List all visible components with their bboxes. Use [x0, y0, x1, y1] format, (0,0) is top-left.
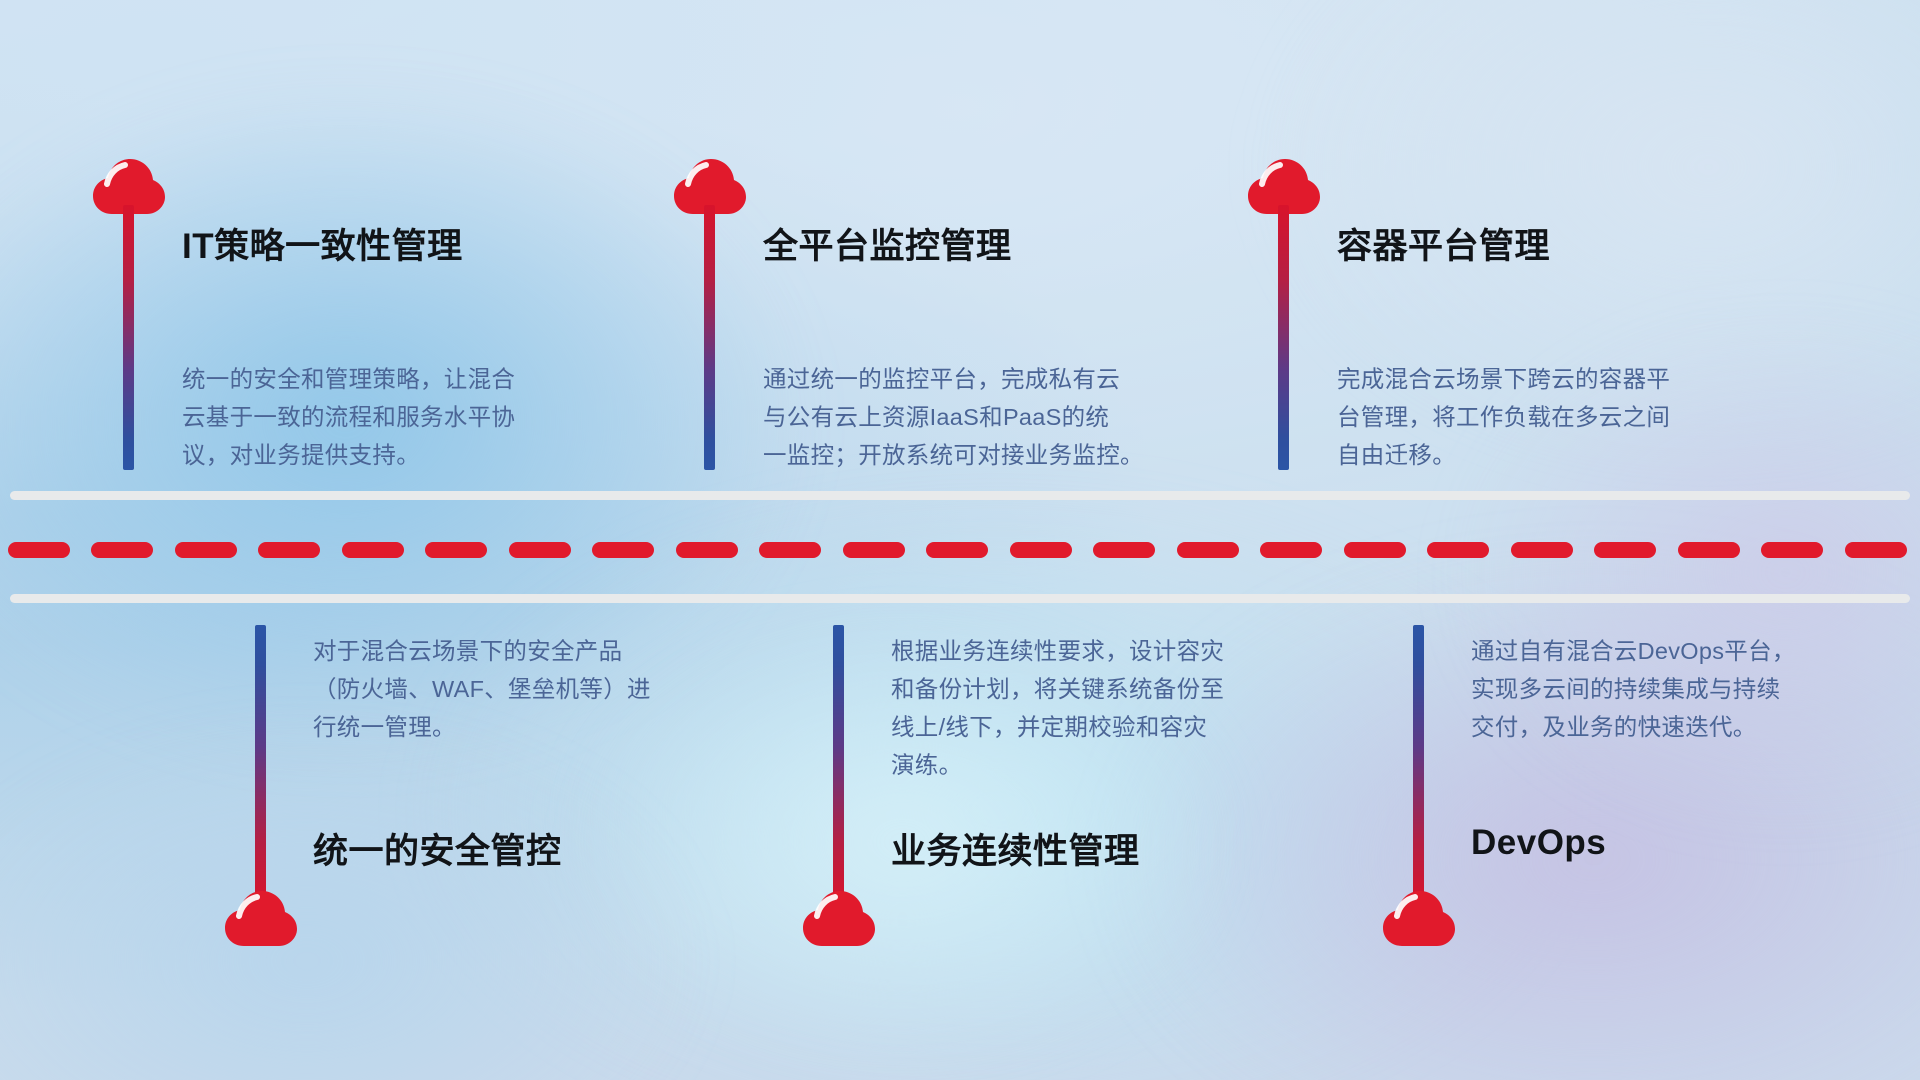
body-line: 通过统一的监控平台，完成私有云: [763, 360, 1144, 398]
road-dash: [425, 542, 487, 558]
road-dash: [8, 542, 70, 558]
road-dash: [592, 542, 654, 558]
road-dash: [1344, 542, 1406, 558]
body-line: 和备份计划，将关键系统备份至: [891, 670, 1224, 708]
road-dash: [1678, 542, 1740, 558]
body-line: 云基于一致的流程和服务水平协: [182, 398, 515, 436]
infographic-canvas: IT策略一致性管理 统一的安全和管理策略，让混合 云基于一致的流程和服务水平协 …: [0, 0, 1920, 1080]
bottom-item-2-title: DevOps: [1471, 823, 1606, 863]
marker-stem: [1278, 205, 1289, 470]
bottom-item-0-body: 对于混合云场景下的安全产品 （防火墙、WAF、堡垒机等）进 行统一管理。: [313, 632, 651, 746]
body-line: 根据业务连续性要求，设计容灾: [891, 632, 1224, 670]
road-dash: [1260, 542, 1322, 558]
top-item-0-title: IT策略一致性管理: [182, 218, 463, 269]
body-line: 台管理，将工作负载在多云之间: [1337, 398, 1670, 436]
body-line: （防火墙、WAF、堡垒机等）进: [313, 670, 651, 708]
marker-stem: [123, 205, 134, 470]
road-dash: [1177, 542, 1239, 558]
road-dash: [1427, 542, 1489, 558]
top-item-0-body: 统一的安全和管理策略，让混合 云基于一致的流程和服务水平协 议，对业务提供支持。: [182, 360, 515, 474]
body-line: 实现多云间的持续集成与持续: [1471, 670, 1796, 708]
cloud-icon: [224, 890, 298, 946]
road-dash: [1594, 542, 1656, 558]
top-item-2-body: 完成混合云场景下跨云的容器平 台管理，将工作负载在多云之间 自由迁移。: [1337, 360, 1670, 474]
body-line: 完成混合云场景下跨云的容器平: [1337, 360, 1670, 398]
road-dashed-centerline: [0, 542, 1920, 558]
road-dash: [175, 542, 237, 558]
marker-stem: [1413, 625, 1424, 903]
road-dash: [676, 542, 738, 558]
body-line: 行统一管理。: [313, 708, 651, 746]
road-dash: [342, 542, 404, 558]
body-line: 自由迁移。: [1337, 436, 1670, 474]
top-item-1-body: 通过统一的监控平台，完成私有云 与公有云上资源IaaS和PaaS的统 一监控；开…: [763, 360, 1144, 474]
body-line: 对于混合云场景下的安全产品: [313, 632, 651, 670]
bottom-item-1-body: 根据业务连续性要求，设计容灾 和备份计划，将关键系统备份至 线上/线下，并定期校…: [891, 632, 1224, 784]
road-dash: [1845, 542, 1907, 558]
road-dash: [1093, 542, 1155, 558]
bottom-item-0-title: 统一的安全管控: [313, 823, 562, 874]
body-line: 演练。: [891, 746, 1224, 784]
top-item-1-title: 全平台监控管理: [763, 218, 1012, 269]
body-line: 线上/线下，并定期校验和容灾: [891, 708, 1224, 746]
body-line: 一监控；开放系统可对接业务监控。: [763, 436, 1144, 474]
body-line: 通过自有混合云DevOps平台，: [1471, 632, 1796, 670]
road-dash: [1010, 542, 1072, 558]
road-dash: [843, 542, 905, 558]
bottom-item-2-body: 通过自有混合云DevOps平台， 实现多云间的持续集成与持续 交付，及业务的快速…: [1471, 632, 1796, 746]
body-line: 与公有云上资源IaaS和PaaS的统: [763, 398, 1144, 436]
road-dash: [91, 542, 153, 558]
road-dash: [258, 542, 320, 558]
body-line: 议，对业务提供支持。: [182, 436, 515, 474]
road-line-upper: [10, 491, 1910, 500]
road-dash: [1511, 542, 1573, 558]
cloud-icon: [802, 890, 876, 946]
top-item-2-title: 容器平台管理: [1337, 218, 1550, 269]
background-glow: [0, 734, 691, 1080]
body-line: 统一的安全和管理策略，让混合: [182, 360, 515, 398]
bottom-item-1-title: 业务连续性管理: [891, 823, 1140, 874]
marker-stem: [833, 625, 844, 903]
cloud-icon: [1382, 890, 1456, 946]
road-line-lower: [10, 594, 1910, 603]
marker-stem: [704, 205, 715, 470]
body-line: 交付，及业务的快速迭代。: [1471, 708, 1796, 746]
road-dash: [926, 542, 988, 558]
marker-stem: [255, 625, 266, 903]
road-dash: [1761, 542, 1823, 558]
road-dash: [759, 542, 821, 558]
road-dash: [509, 542, 571, 558]
